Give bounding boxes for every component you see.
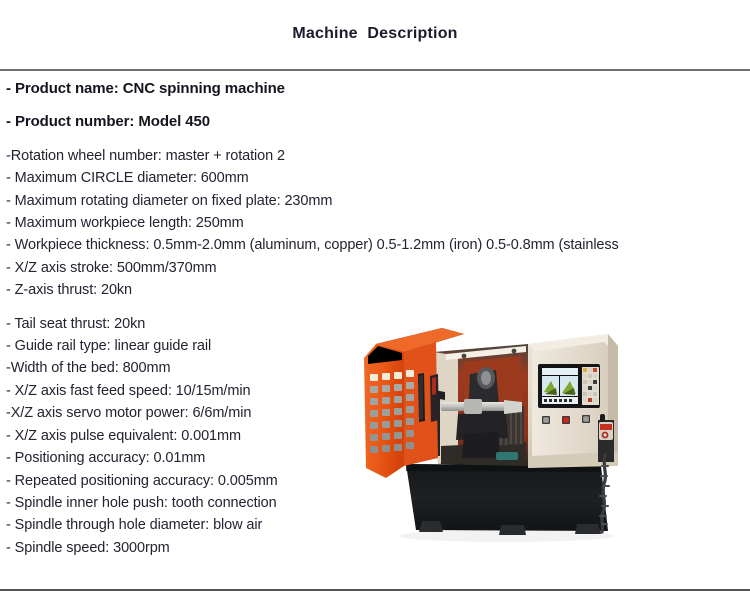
cnc-control-console bbox=[532, 342, 608, 456]
machine-description-page: Machine Description - Product name: CNC … bbox=[0, 0, 750, 597]
footer-divider bbox=[0, 589, 750, 591]
header-divider bbox=[0, 69, 750, 71]
spec-item-product-name: - Product name: CNC spinning machine bbox=[6, 78, 748, 100]
spec-item-z-axis-thrust: - Z-axis thrust: 20kn bbox=[6, 279, 748, 301]
console-switches bbox=[542, 415, 590, 424]
spec-item-rotation-wheel-number: -Rotation wheel number: master + rotatio… bbox=[6, 145, 748, 167]
cnc-machine-photo bbox=[346, 316, 686, 558]
page-title: Machine Description bbox=[292, 25, 457, 43]
spec-item-maximum-circle-diameter: - Maximum CIRCLE diameter: 600mm bbox=[6, 167, 748, 189]
spec-item-workpiece-thickness: - Workpiece thickness: 0.5mm-2.0mm (alum… bbox=[6, 234, 748, 256]
spec-item-maximum-workpiece-length: - Maximum workpiece length: 250mm bbox=[6, 212, 748, 234]
machine-interior-window bbox=[432, 344, 528, 466]
emergency-stop-button bbox=[563, 417, 569, 423]
page-title-container: Machine Description bbox=[0, 25, 750, 43]
machine-base bbox=[406, 459, 608, 535]
spec-item-product-number: - Product number: Model 450 bbox=[6, 111, 748, 133]
door-handle bbox=[418, 373, 425, 422]
spec-item-maximum-rotating-diameter: - Maximum rotating diameter on fixed pla… bbox=[6, 190, 748, 212]
spec-item-xz-axis-stroke: - X/Z axis stroke: 500mm/370mm bbox=[6, 257, 748, 279]
